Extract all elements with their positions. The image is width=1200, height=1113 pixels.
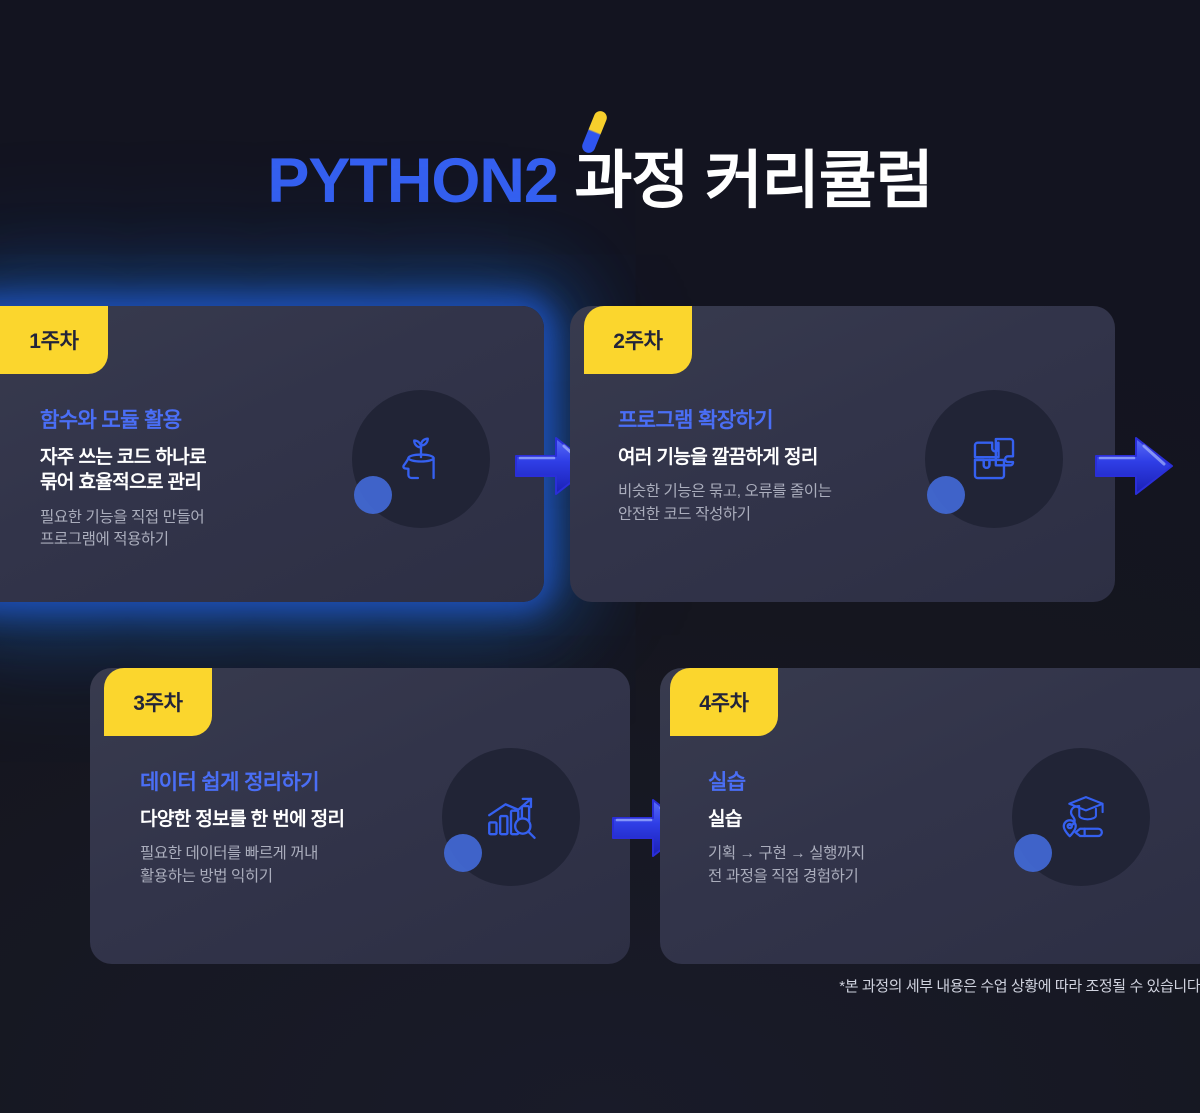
arrow-right-icon-2 [1088, 424, 1180, 508]
page-title-rest: 과정 커리큘럼 [574, 146, 932, 216]
week-card-3-medallion [442, 748, 580, 886]
page-title: PYTHON2 과정 커리큘럼 [0, 150, 1200, 213]
week-card-3[interactable]: 3주차 데이터 쉽게 정리하기 다양한 정보를 한 번에 정리 필요한 데이터를… [90, 668, 630, 964]
week-card-2-description: 비슷한 기능은 묶고, 오류를 줄이는 안전한 코드 작성하기 [618, 481, 938, 526]
week-card-3-title: 데이터 쉽게 정리하기 [140, 766, 450, 796]
week-card-2-subtitle: 여러 기능을 깔끔하게 정리 [618, 445, 938, 470]
week-card-4-description: 기획 → 구현 → 실행까지 전 과정을 직접 경험하기 [708, 843, 1008, 888]
week-card-3-body: 데이터 쉽게 정리하기 다양한 정보를 한 번에 정리 필요한 데이터를 빠르게… [140, 766, 450, 888]
week-card-4-body: 실습 실습 기획 → 구현 → 실행까지 전 과정을 직접 경험하기 [708, 766, 1008, 888]
week-card-4-subtitle: 실습 [708, 807, 1008, 832]
week-card-1-subtitle: 자주 쓰는 코드 하나로 묶어 효율적으로 관리 [40, 445, 340, 496]
week-card-3-subtitle: 다양한 정보를 한 번에 정리 [140, 807, 450, 832]
bar-chart-search-icon [442, 748, 580, 886]
week-card-1-medallion [352, 390, 490, 528]
week-card-4-title: 실습 [708, 766, 1008, 796]
week-badge-4: 4주차 [670, 668, 778, 736]
week-badge-2: 2주차 [584, 306, 692, 374]
page-title-block: PYTHON2 과정 커리큘럼 [0, 150, 1200, 213]
week-badge-3: 3주차 [104, 668, 212, 736]
week-badge-1: 1주차 [0, 306, 108, 374]
graduation-cap-pin-pencil-icon [1012, 748, 1150, 886]
week-card-4-medallion [1012, 748, 1150, 886]
curriculum-infographic: PYTHON2 과정 커리큘럼 1주차 함수와 모듈 활용 자주 쓰는 코드 하… [0, 0, 1200, 1113]
week-card-2[interactable]: 2주차 프로그램 확장하기 여러 기능을 깔끔하게 정리 비슷한 기능은 묶고,… [570, 306, 1115, 602]
week-card-2-body: 프로그램 확장하기 여러 기능을 깔끔하게 정리 비슷한 기능은 묶고, 오류를… [618, 404, 938, 526]
week-card-2-medallion [925, 390, 1063, 528]
puzzle-pieces-icon [925, 390, 1063, 528]
head-with-sprout-icon [352, 390, 490, 528]
week-card-3-description: 필요한 데이터를 빠르게 꺼내 활용하는 방법 익히기 [140, 843, 450, 888]
week-card-4[interactable]: 4주차 실습 실습 기획 → 구현 → 실행까지 전 과정을 직접 경험하기 [660, 668, 1200, 964]
week-card-1[interactable]: 1주차 함수와 모듈 활용 자주 쓰는 코드 하나로 묶어 효율적으로 관리 필… [0, 306, 544, 602]
week-card-2-title: 프로그램 확장하기 [618, 404, 938, 434]
footnote-text: *본 과정의 세부 내용은 수업 상황에 따라 조정될 수 있습니다. [839, 975, 1200, 996]
week-card-1-title: 함수와 모듈 활용 [40, 404, 340, 434]
week-card-1-body: 함수와 모듈 활용 자주 쓰는 코드 하나로 묶어 효율적으로 관리 필요한 기… [40, 404, 340, 551]
page-title-highlight: PYTHON2 [267, 146, 558, 216]
week-card-1-description: 필요한 기능을 직접 만들어 프로그램에 적용하기 [40, 507, 340, 552]
